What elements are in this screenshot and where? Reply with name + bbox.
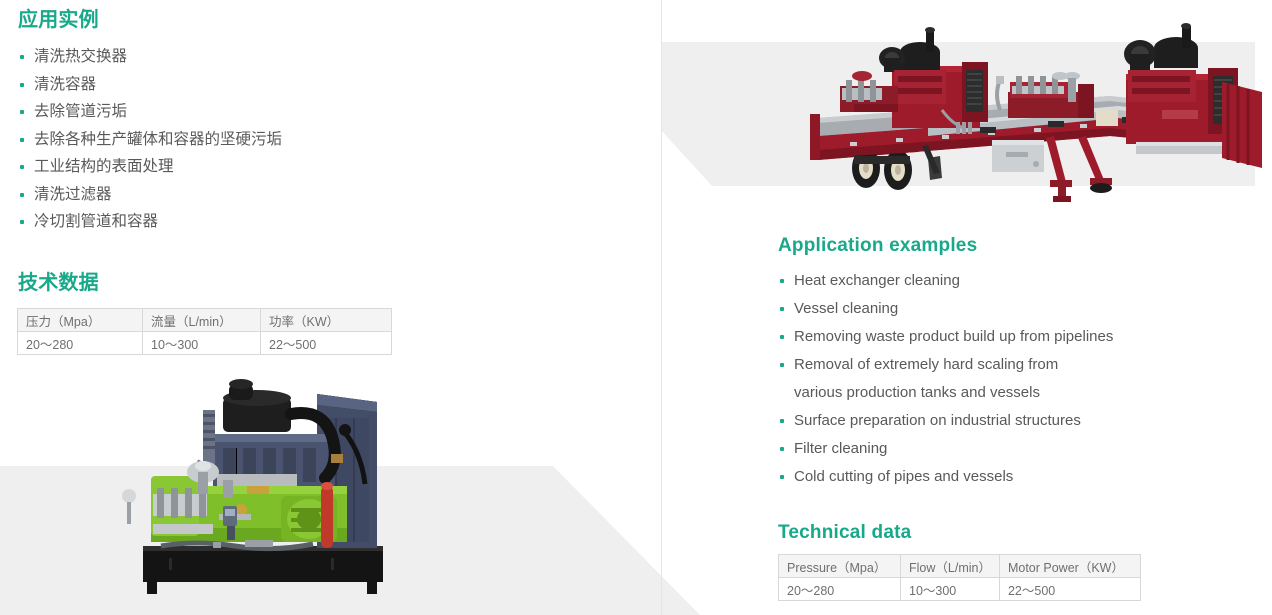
technical-data-heading-en: Technical data bbox=[778, 521, 911, 544]
list-item: Removal of extremely hard scaling from v… bbox=[778, 351, 1248, 407]
list-item-label: 冷切割管道和容器 bbox=[34, 213, 158, 230]
technical-data-table-en: Pressure（Mpa） Flow（L/min） Motor Power（KW… bbox=[778, 554, 1141, 601]
list-item-label: Vessel cleaning bbox=[794, 300, 898, 317]
technical-data-heading-cn: 技术数据 bbox=[18, 271, 99, 295]
table-row: 20～280 10～300 22～500 bbox=[18, 332, 392, 355]
list-item: 清洗过滤器 bbox=[18, 181, 618, 209]
list-item: Cold cutting of pipes and vessels bbox=[778, 463, 1248, 491]
skid-pump-unit-illustration bbox=[95, 368, 415, 600]
table-header-row: 压力（Mpa） 流量（L/min） 功率（KW） bbox=[18, 309, 392, 332]
list-item: 工业结构的表面处理 bbox=[18, 153, 618, 181]
table-cell: 20～280 bbox=[779, 578, 901, 601]
list-item: Heat exchanger cleaning bbox=[778, 267, 1248, 295]
list-item: 清洗热交换器 bbox=[18, 43, 618, 71]
list-item-label: Removal of extremely hard scaling from bbox=[794, 351, 1248, 379]
table-cell: 10～300 bbox=[901, 578, 1000, 601]
list-item-label: Surface preparation on industrial struct… bbox=[794, 412, 1081, 429]
table-header-cell: Flow（L/min） bbox=[901, 555, 1000, 578]
table-row: 20～280 10～300 22～500 bbox=[779, 578, 1141, 601]
list-item-label: 去除管道污垢 bbox=[34, 103, 127, 120]
table-header-row: Pressure（Mpa） Flow（L/min） Motor Power（KW… bbox=[779, 555, 1141, 578]
list-item: 冷切割管道和容器 bbox=[18, 208, 618, 236]
table-header-cell: Motor Power（KW） bbox=[999, 555, 1140, 578]
list-item: Removing waste product build up from pip… bbox=[778, 323, 1248, 351]
technical-data-table-cn: 压力（Mpa） 流量（L/min） 功率（KW） 20～280 10～300 2… bbox=[17, 308, 392, 355]
list-item-label-continued: various production tanks and vessels bbox=[794, 379, 1248, 407]
table-header-cell: Pressure（Mpa） bbox=[779, 555, 901, 578]
spec-sheet-page: 应用实例 清洗热交换器 清洗容器 去除管道污垢 去除各种生产罐体和容器的坚硬污垢… bbox=[0, 0, 1272, 615]
application-examples-list-en: Heat exchanger cleaning Vessel cleaning … bbox=[778, 267, 1248, 491]
list-item-label: Heat exchanger cleaning bbox=[794, 272, 960, 289]
application-examples-list-cn: 清洗热交换器 清洗容器 去除管道污垢 去除各种生产罐体和容器的坚硬污垢 工业结构… bbox=[18, 43, 618, 236]
list-item: 去除管道污垢 bbox=[18, 98, 618, 126]
product-photo-trailer-pump-unit bbox=[810, 18, 1272, 226]
application-examples-heading-cn: 应用实例 bbox=[18, 8, 99, 32]
list-item: Filter cleaning bbox=[778, 435, 1248, 463]
list-item-label: 工业结构的表面处理 bbox=[34, 158, 174, 175]
list-item: 去除各种生产罐体和容器的坚硬污垢 bbox=[18, 126, 618, 154]
table-header-cell: 流量（L/min） bbox=[143, 309, 261, 332]
list-item-label: Removing waste product build up from pip… bbox=[794, 328, 1113, 345]
list-item-label: 清洗容器 bbox=[34, 76, 96, 93]
list-item-label: 清洗过滤器 bbox=[34, 186, 112, 203]
left-column-chinese: 应用实例 清洗热交换器 清洗容器 去除管道污垢 去除各种生产罐体和容器的坚硬污垢… bbox=[0, 0, 660, 615]
product-photo-skid-pump-unit bbox=[95, 368, 415, 600]
table-cell: 22～500 bbox=[999, 578, 1140, 601]
application-examples-heading-en: Application examples bbox=[778, 234, 977, 257]
list-item-label: Cold cutting of pipes and vessels bbox=[794, 468, 1013, 485]
right-column-english: Application examples Heat exchanger clea… bbox=[663, 0, 1272, 615]
table-cell: 10～300 bbox=[143, 332, 261, 355]
list-item: Surface preparation on industrial struct… bbox=[778, 407, 1248, 435]
list-item: Vessel cleaning bbox=[778, 295, 1248, 323]
list-item-label: 清洗热交换器 bbox=[34, 48, 127, 65]
list-item-label: 去除各种生产罐体和容器的坚硬污垢 bbox=[34, 131, 282, 148]
trailer-pump-unit-illustration bbox=[810, 18, 1272, 226]
column-divider bbox=[661, 0, 662, 615]
table-cell: 20～280 bbox=[18, 332, 143, 355]
list-item-label: Filter cleaning bbox=[794, 440, 887, 457]
table-cell: 22～500 bbox=[261, 332, 392, 355]
table-header-cell: 压力（Mpa） bbox=[18, 309, 143, 332]
table-header-cell: 功率（KW） bbox=[261, 309, 392, 332]
list-item: 清洗容器 bbox=[18, 71, 618, 99]
